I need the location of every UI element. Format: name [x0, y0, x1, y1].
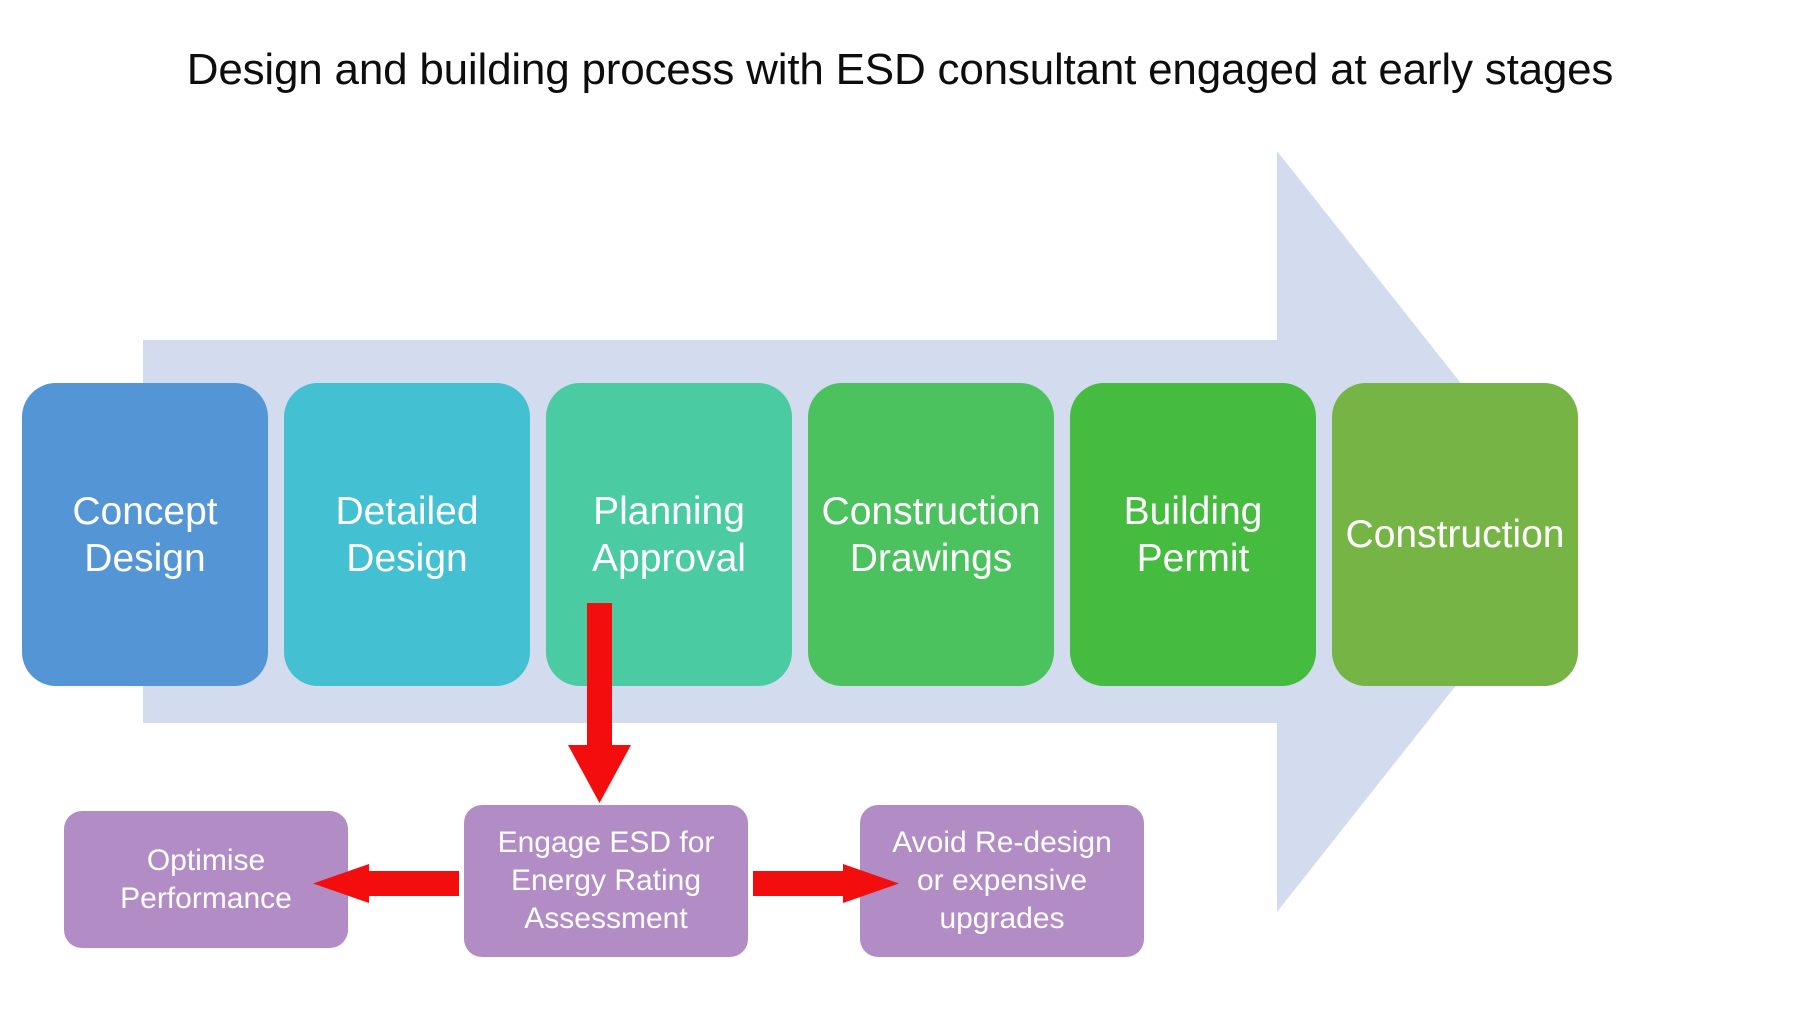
- stage-box-detailed-design[interactable]: Detailed Design: [284, 383, 530, 686]
- stage-box-planning-approval[interactable]: Planning Approval: [546, 383, 792, 686]
- page-title: Design and building process with ESD con…: [0, 42, 1800, 98]
- outcome-label: Avoid Re-design or expensive upgrades: [892, 824, 1112, 938]
- outcome-box-engage-esd[interactable]: Engage ESD for Energy Rating Assessment: [464, 805, 748, 957]
- outcome-box-avoid-redesign[interactable]: Avoid Re-design or expensive upgrades: [860, 805, 1144, 957]
- stage-label: Planning Approval: [592, 488, 746, 582]
- outcome-label: Engage ESD for Energy Rating Assessment: [498, 824, 715, 938]
- stage-label: Construction Drawings: [822, 488, 1041, 582]
- stage-label: Detailed Design: [335, 488, 478, 582]
- stage-box-concept-design[interactable]: Concept Design: [22, 383, 268, 686]
- diagram-canvas: Design and building process with ESD con…: [0, 0, 1800, 1012]
- stage-label: Concept Design: [72, 488, 217, 582]
- stage-box-construction-drawings[interactable]: Construction Drawings: [808, 383, 1054, 686]
- outcome-box-optimise-performance[interactable]: Optimise Performance: [64, 811, 348, 948]
- stage-box-building-permit[interactable]: Building Permit: [1070, 383, 1316, 686]
- outcome-label: Optimise Performance: [120, 842, 292, 918]
- stage-box-construction[interactable]: Construction: [1332, 383, 1578, 686]
- stage-label: Construction: [1346, 511, 1565, 558]
- stage-label: Building Permit: [1124, 488, 1263, 582]
